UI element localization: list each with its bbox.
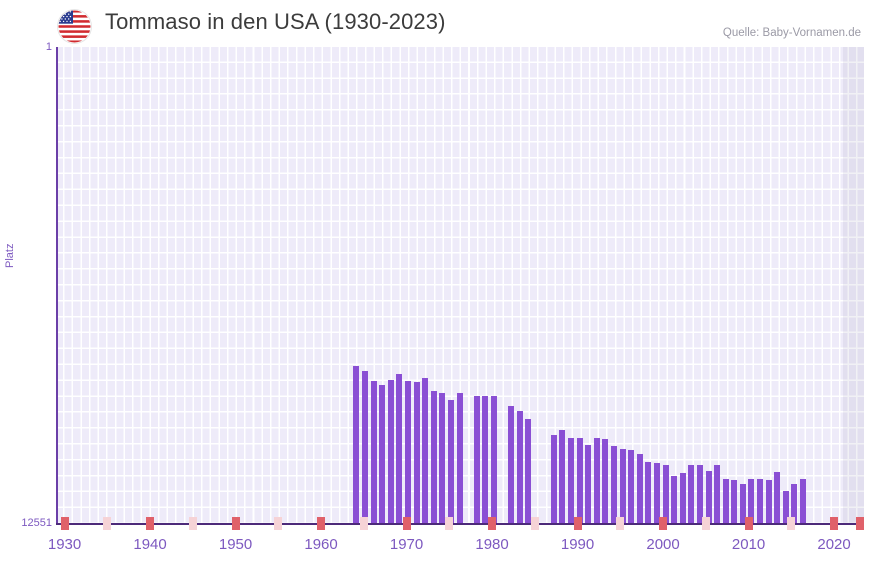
x-tick-1945 <box>189 517 197 530</box>
chart-header: Tommaso in den USA (1930-2023) Quelle: B… <box>0 0 873 44</box>
x-axis-label-1980: 1980 <box>475 536 508 553</box>
bar-1973[interactable] <box>422 378 428 524</box>
bar-1969[interactable] <box>388 380 394 524</box>
bar-2000[interactable] <box>654 463 660 524</box>
bar-1999[interactable] <box>645 462 651 524</box>
x-axis-label-1960: 1960 <box>304 536 337 553</box>
bar-1967[interactable] <box>371 381 377 524</box>
bar-1968[interactable] <box>379 385 385 524</box>
x-axis-label-1990: 1990 <box>561 536 594 553</box>
x-axis-label-2000: 2000 <box>646 536 679 553</box>
x-tick-1985 <box>531 517 539 530</box>
bar-1994[interactable] <box>602 439 608 524</box>
bar-1977[interactable] <box>457 393 463 524</box>
x-tick-2020 <box>830 517 838 530</box>
x-tick-1930 <box>61 517 69 530</box>
bar-1976[interactable] <box>448 400 454 524</box>
x-tick-end <box>856 517 864 530</box>
plot-area <box>56 47 864 524</box>
x-axis-label-2010: 2010 <box>732 536 765 553</box>
bar-1989[interactable] <box>559 430 565 524</box>
x-tick-2010 <box>745 517 753 530</box>
bar-1974[interactable] <box>431 391 437 524</box>
x-axis-label-1950: 1950 <box>219 536 252 553</box>
x-tick-2000 <box>659 517 667 530</box>
us-flag-icon <box>58 10 91 43</box>
x-tick-1950 <box>232 517 240 530</box>
x-tick-1940 <box>146 517 154 530</box>
y-axis-top-label: 1 <box>46 41 52 53</box>
x-tick-1955 <box>274 517 282 530</box>
bar-1971[interactable] <box>405 381 411 524</box>
bar-1966[interactable] <box>362 371 368 524</box>
bar-1972[interactable] <box>414 382 420 524</box>
bar-1975[interactable] <box>439 393 445 524</box>
x-axis-label-2020: 2020 <box>817 536 850 553</box>
x-axis-ticks <box>56 517 864 531</box>
x-axis-label-1970: 1970 <box>390 536 423 553</box>
y-axis-line <box>56 47 58 525</box>
bar-2004[interactable] <box>688 465 694 524</box>
x-tick-1970 <box>403 517 411 530</box>
source-note: Quelle: Baby-Vornamen.de <box>723 27 861 39</box>
bar-1996[interactable] <box>620 449 626 524</box>
bar-1965[interactable] <box>353 366 359 524</box>
bar-1991[interactable] <box>577 438 583 524</box>
bar-1993[interactable] <box>594 438 600 524</box>
x-tick-1965 <box>360 517 368 530</box>
bar-1970[interactable] <box>396 374 402 524</box>
bar-1985[interactable] <box>525 419 531 524</box>
bar-1983[interactable] <box>508 406 514 524</box>
bar-1979[interactable] <box>474 396 480 524</box>
x-tick-1960 <box>317 517 325 530</box>
bar-1992[interactable] <box>585 445 591 524</box>
bar-1998[interactable] <box>637 454 643 524</box>
x-tick-2015 <box>787 517 795 530</box>
bar-series <box>56 47 864 524</box>
bar-1990[interactable] <box>568 438 574 524</box>
bar-1981[interactable] <box>491 396 497 524</box>
y-axis-top-label-wrap: 1 <box>0 41 52 55</box>
bar-1997[interactable] <box>628 450 634 524</box>
bar-1984[interactable] <box>517 411 523 524</box>
bar-1980[interactable] <box>482 396 488 524</box>
x-tick-1995 <box>616 517 624 530</box>
y-axis-bottom-label: 12551 <box>21 517 52 529</box>
y-axis-bottom-label-wrap: 12551 <box>0 517 52 531</box>
bar-1995[interactable] <box>611 446 617 524</box>
x-tick-1935 <box>103 517 111 530</box>
x-tick-1975 <box>445 517 453 530</box>
chart-root: Tommaso in den USA (1930-2023) Quelle: B… <box>0 0 873 567</box>
bar-2001[interactable] <box>663 465 669 524</box>
bar-1988[interactable] <box>551 435 557 524</box>
x-tick-1990 <box>574 517 582 530</box>
bar-2007[interactable] <box>714 465 720 524</box>
bar-2005[interactable] <box>697 465 703 524</box>
page-title: Tommaso in den USA (1930-2023) <box>105 9 446 35</box>
x-tick-2005 <box>702 517 710 530</box>
x-tick-1980 <box>488 517 496 530</box>
x-axis-label-1940: 1940 <box>133 536 166 553</box>
x-axis-label-1930: 1930 <box>48 536 81 553</box>
y-axis-title: Platz <box>4 244 16 268</box>
